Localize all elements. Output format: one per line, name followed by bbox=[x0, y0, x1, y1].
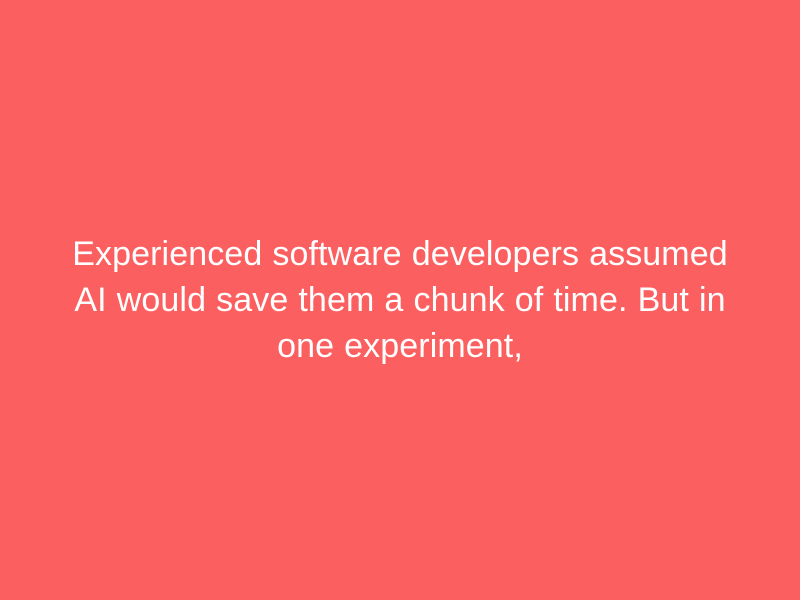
quote-text: Experienced software developers assumed … bbox=[55, 231, 745, 369]
quote-card: Experienced software developers assumed … bbox=[0, 0, 800, 600]
quote-block: Experienced software developers assumed … bbox=[55, 231, 745, 369]
